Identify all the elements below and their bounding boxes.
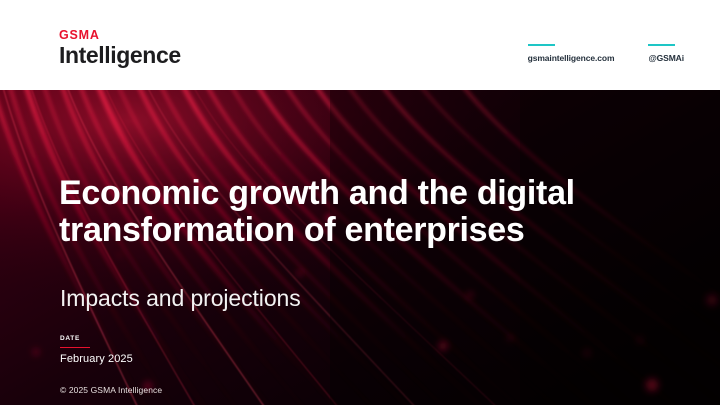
header-links: gsmaintelligence.com @GSMAi — [528, 44, 684, 63]
logo-product-text: Intelligence — [59, 43, 181, 68]
gsma-intelligence-logo: GSMA Intelligence — [59, 29, 181, 67]
page-title: Economic growth and the digital transfor… — [59, 175, 619, 249]
hero-banner: Economic growth and the digital transfor… — [0, 90, 720, 405]
social-handle-label: @GSMAi — [648, 53, 684, 63]
slide-header: GSMA Intelligence gsmaintelligence.com @… — [0, 0, 720, 90]
hero-content: Economic growth and the digital transfor… — [0, 90, 720, 405]
logo-brand-text: GSMA — [59, 29, 181, 42]
date-rule — [60, 347, 90, 349]
website-link-label: gsmaintelligence.com — [528, 53, 615, 63]
date-value: February 2025 — [60, 354, 133, 365]
date-block: DATE February 2025 — [60, 336, 133, 365]
date-label: DATE — [60, 336, 133, 347]
page-subtitle: Impacts and projections — [60, 286, 301, 311]
website-link[interactable]: gsmaintelligence.com — [528, 44, 615, 63]
social-handle-link[interactable]: @GSMAi — [648, 44, 684, 63]
copyright-notice: © 2025 GSMA Intelligence — [60, 386, 162, 395]
title-slide: GSMA Intelligence gsmaintelligence.com @… — [0, 0, 720, 405]
